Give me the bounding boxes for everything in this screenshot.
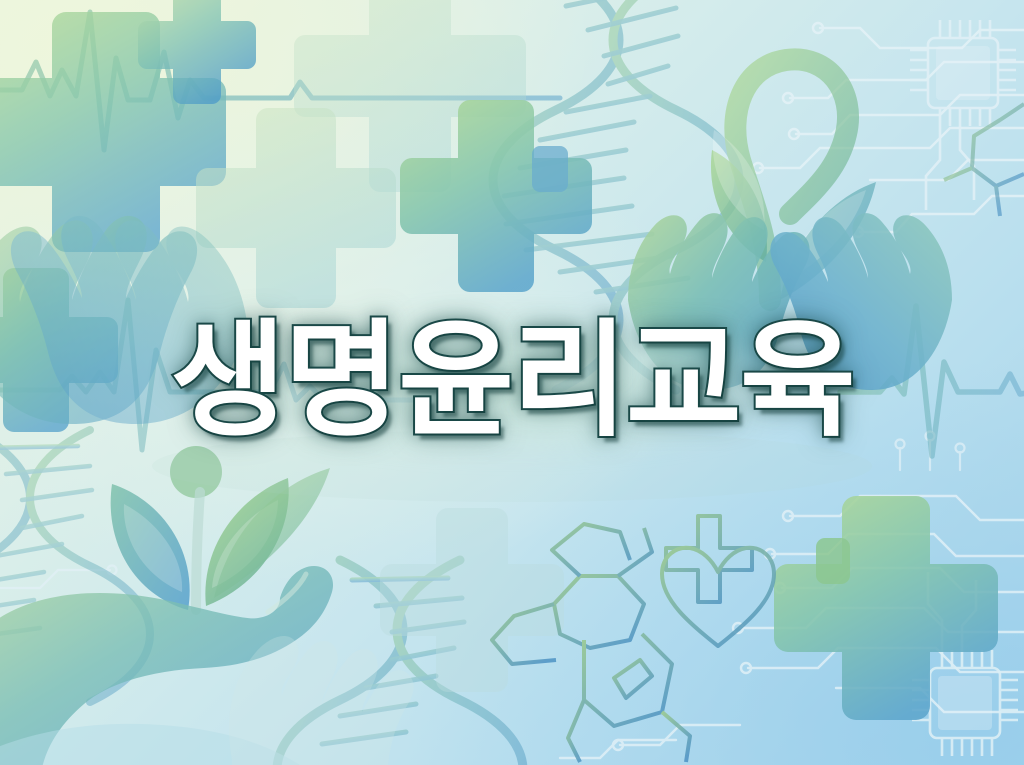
medical-cross-icon [816, 538, 850, 584]
heart-cross-icon [662, 516, 774, 646]
medical-cross-icon [532, 146, 568, 192]
molecule-icon [492, 524, 690, 762]
decorative-motif-layer [0, 0, 1024, 765]
caring-hands-icon [0, 216, 248, 424]
bioethics-education-poster: 생명윤리교육 [0, 0, 1024, 765]
caring-hands-icon [229, 636, 414, 765]
